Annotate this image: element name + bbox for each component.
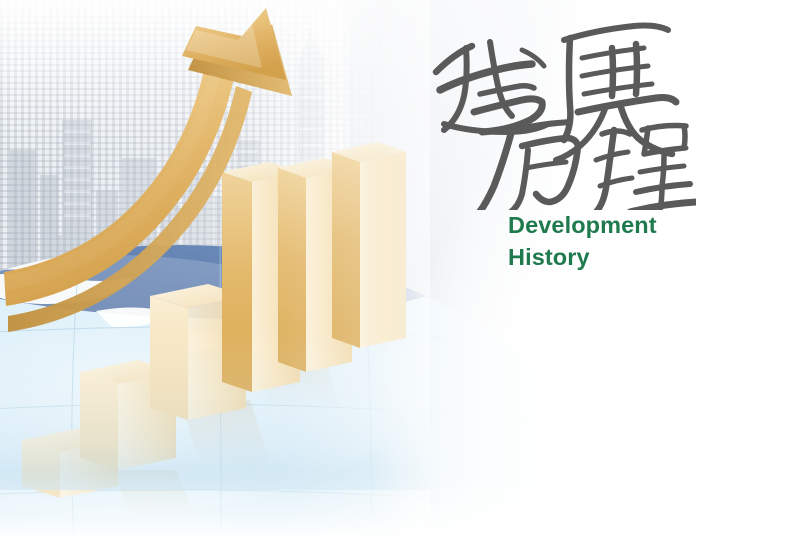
calligraphy-char-fa [436, 42, 548, 132]
english-title-line-1: Development [508, 210, 724, 242]
english-title-line-2: History [508, 242, 724, 274]
chinese-calligraphy-title: 发展历程 [424, 20, 696, 210]
calligraphy-char-cheng [594, 126, 696, 211]
growth-arrow-icon [0, 0, 350, 360]
development-history-banner: 发展历程 [0, 0, 800, 540]
calligraphy-char-li [478, 122, 578, 210]
title-block: 发展历程 [424, 20, 724, 273]
english-title: Development History [424, 210, 724, 273]
